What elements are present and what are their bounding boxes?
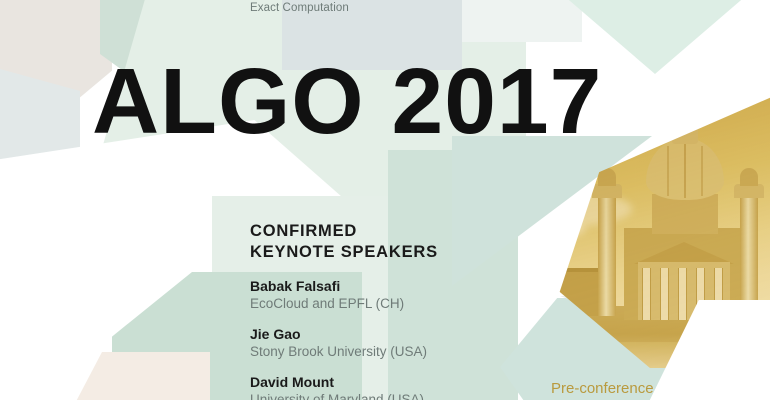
speaker-name: Babak Falsafi: [250, 277, 510, 295]
track-label-ipec: Parameterized and Exact Computation: [250, 0, 349, 16]
speaker-entry: Babak Falsafi EcoCloud and EPFL (CH): [250, 277, 510, 313]
speaker-affiliation: University of Maryland (USA): [250, 391, 510, 400]
speaker-entry: Jie Gao Stony Brook University (USA): [250, 325, 510, 361]
speaker-name: David Mount: [250, 373, 510, 391]
track-label-waoa: Online Algorithms: [440, 0, 532, 1]
keynote-speakers-list: Babak Falsafi EcoCloud and EPFL (CH) Jie…: [250, 277, 510, 400]
speaker-affiliation: Stony Brook University (USA): [250, 343, 510, 361]
poster-text: on Algorithms Parameterized and Exact Co…: [0, 0, 770, 400]
preconference-label: Pre-conference: [551, 379, 654, 399]
poster-title: ALGO 2017: [92, 55, 602, 148]
speaker-entry: David Mount University of Maryland (USA): [250, 373, 510, 400]
speaker-name: Jie Gao: [250, 325, 510, 343]
algo-2017-poster: on Algorithms Parameterized and Exact Co…: [0, 0, 770, 400]
track-label-esa: on Algorithms: [92, 0, 163, 1]
keynote-speakers-heading: CONFIRMED KEYNOTE SPEAKERS: [250, 221, 438, 263]
speaker-affiliation: EcoCloud and EPFL (CH): [250, 295, 510, 313]
